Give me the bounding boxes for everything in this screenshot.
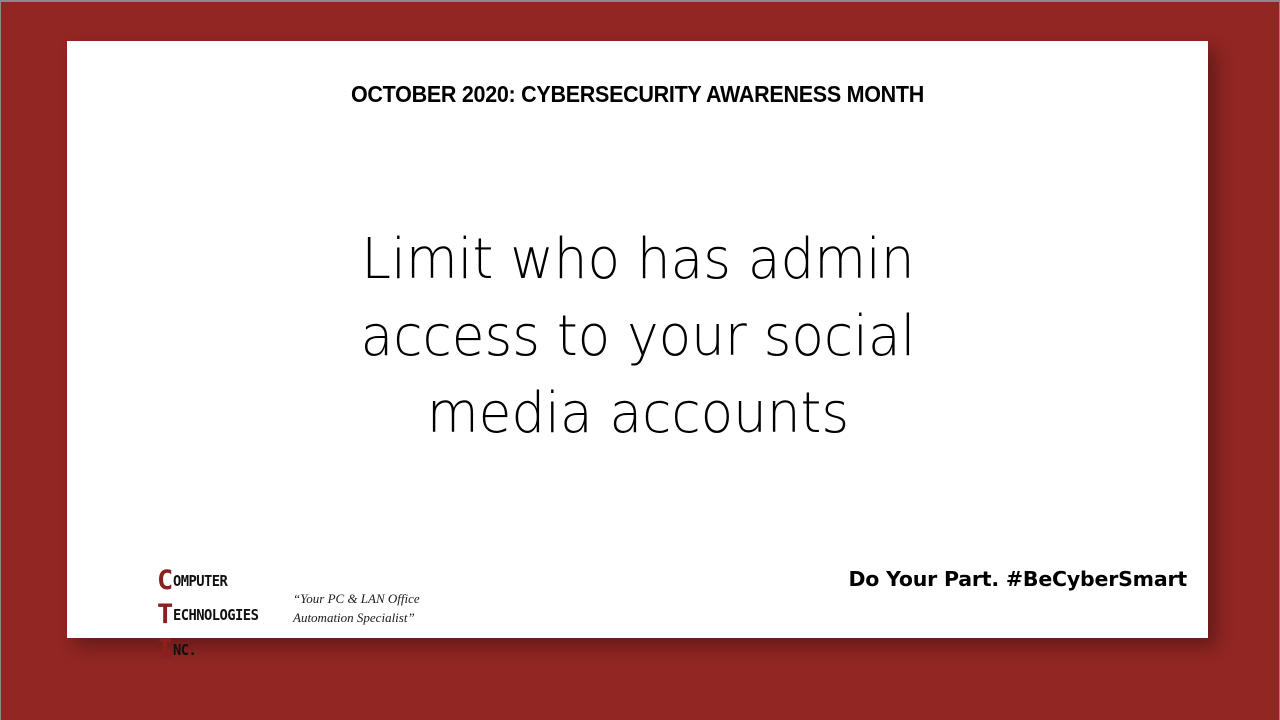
logo-tagline: “Your PC & LAN Office Automation Special… xyxy=(293,589,433,627)
logo-tagline-line-1: “Your PC & LAN Office xyxy=(293,591,420,606)
company-logo: COMPUTER TECHNOLOGIES INC. “Your PC & LA… xyxy=(157,565,437,657)
logo-wordmark: COMPUTER TECHNOLOGIES INC. xyxy=(157,565,297,667)
logo-initial-c: C xyxy=(157,565,173,596)
logo-word-computer: OMPUTER xyxy=(173,574,227,589)
logo-line-technologies: TECHNOLOGIES xyxy=(157,601,297,628)
logo-tagline-line-2: Automation Specialist” xyxy=(293,610,415,625)
logo-initial-i: I xyxy=(157,634,173,665)
slide-canvas: OCTOBER 2020: CYBERSECURITY AWARENESS MO… xyxy=(0,0,1280,720)
logo-word-technologies: ECHNOLOGIES xyxy=(173,608,258,623)
slide-body-text: Limit who has admin access to your socia… xyxy=(308,221,968,452)
logo-initial-t: T xyxy=(157,599,173,630)
logo-line-inc: INC. xyxy=(157,636,297,663)
logo-line-computer: COMPUTER xyxy=(157,567,297,594)
body-text-line-3: media accounts xyxy=(324,375,951,452)
logo-word-inc: NC. xyxy=(173,643,196,658)
slide-card: OCTOBER 2020: CYBERSECURITY AWARENESS MO… xyxy=(67,41,1208,638)
slide-title: OCTOBER 2020: CYBERSECURITY AWARENESS MO… xyxy=(104,81,1171,108)
footer-slogan: Do Your Part. #BeCyberSmart xyxy=(848,567,1187,591)
body-text-line-1: Limit who has admin xyxy=(324,221,951,298)
body-text-line-2: access to your social xyxy=(324,298,951,375)
